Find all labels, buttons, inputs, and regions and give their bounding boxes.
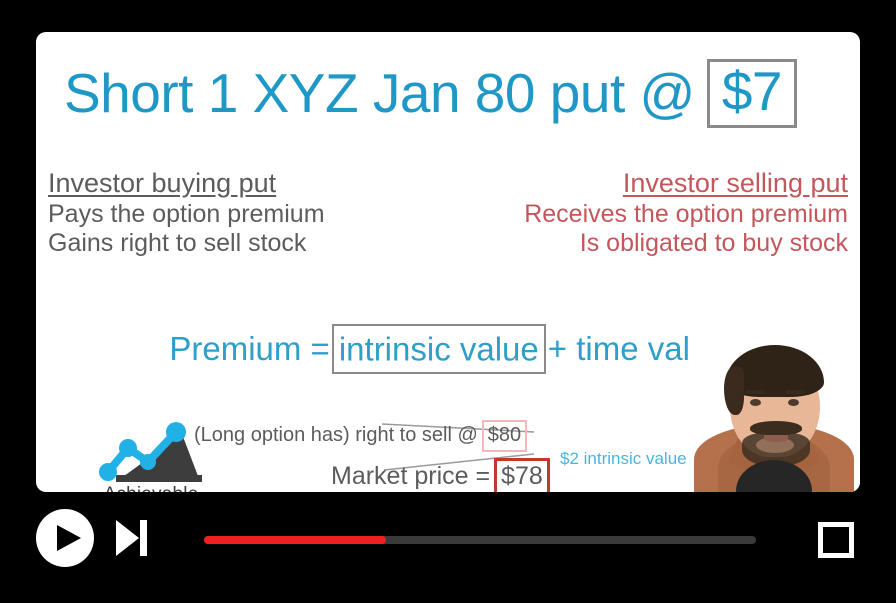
- presenter-webcam: [688, 337, 860, 492]
- slide-canvas: Short 1 XYZ Jan 80 put @ $7 Investor buy…: [36, 32, 860, 492]
- skip-next-icon: [116, 520, 139, 556]
- formula-lead: Premium =: [169, 330, 329, 367]
- title-premium-value: $7: [722, 60, 782, 122]
- presenter-mustache: [750, 421, 802, 435]
- buying-put-line-2: Gains right to sell stock: [48, 229, 448, 258]
- achievable-wordmark: Achievable: [86, 484, 216, 492]
- progress-bar[interactable]: [204, 536, 756, 544]
- presenter-eyebrow-right: [786, 390, 804, 394]
- achievable-logo-icon: [94, 420, 206, 488]
- intrinsic-value-callout: $2 intrinsic value: [560, 448, 687, 470]
- selling-put-heading: Investor selling put: [448, 167, 848, 200]
- next-video-button[interactable]: [114, 518, 152, 558]
- skip-next-bar: [140, 520, 147, 556]
- achievable-logo: Achievable: [86, 420, 216, 492]
- presenter-eye-left: [750, 399, 761, 406]
- buying-put-heading: Investor buying put: [48, 167, 448, 200]
- presenter-hair-side: [724, 367, 744, 415]
- play-button[interactable]: [36, 509, 94, 567]
- buying-put-line-1: Pays the option premium: [48, 200, 448, 229]
- presenter-eyebrow-left: [746, 390, 764, 394]
- column-buying-put: Investor buying put Pays the option prem…: [48, 167, 448, 258]
- selling-put-line-1: Receives the option premium: [448, 200, 848, 229]
- column-selling-put: Investor selling put Receives the option…: [448, 167, 848, 258]
- presenter-eye-right: [788, 399, 799, 406]
- strike-price-value: $80: [482, 420, 527, 452]
- market-price-row: Market price =$78: [331, 458, 550, 492]
- market-price-label: Market price =: [331, 462, 490, 490]
- fullscreen-icon-corner-br: [836, 540, 854, 558]
- strike-price-row: (Long option has) right to sell @$80: [194, 420, 527, 452]
- fullscreen-icon-corner-tl: [818, 522, 836, 540]
- formula-intrinsic-text: intrinsic value: [339, 330, 539, 367]
- slide-title-text: Short 1 XYZ Jan 80 put @: [64, 66, 695, 121]
- strike-price-label: (Long option has) right to sell @: [194, 424, 478, 446]
- fullscreen-icon-corner-bl: [818, 540, 836, 558]
- investor-comparison: Investor buying put Pays the option prem…: [36, 167, 860, 267]
- progress-bar-fill: [204, 536, 386, 544]
- market-price-value: $78: [494, 458, 550, 492]
- selling-put-line-2: Is obligated to buy stock: [448, 229, 848, 258]
- presenter-mouth: [764, 435, 788, 442]
- slide-title: Short 1 XYZ Jan 80 put @ $7: [64, 54, 832, 132]
- play-icon: [57, 525, 81, 551]
- formula-intrinsic-box: intrinsic value: [332, 324, 546, 374]
- video-player: Short 1 XYZ Jan 80 put @ $7 Investor buy…: [0, 0, 896, 603]
- fullscreen-icon-corner-tr: [836, 522, 854, 540]
- player-controls: [0, 495, 896, 603]
- intrinsic-value-example: (Long option has) right to sell @$80 Mar…: [186, 414, 606, 492]
- title-premium-box: $7: [707, 59, 797, 128]
- fullscreen-button[interactable]: [818, 522, 854, 558]
